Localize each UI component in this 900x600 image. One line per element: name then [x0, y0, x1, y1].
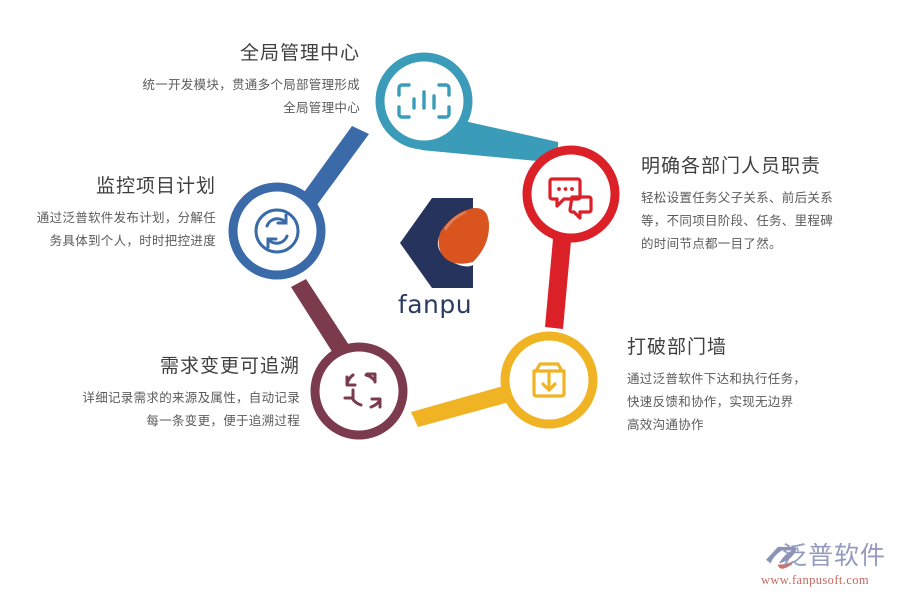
node-title-monitor: 监控项目计划 — [0, 175, 216, 200]
node-text-wall: 打破部门墙 通过泛普软件下达和执行任务， 快速反馈和协作，实现无边界 高效沟通协… — [627, 336, 877, 437]
center-logo-wordmark: fanpu — [380, 290, 490, 319]
node-text-monitor: 监控项目计划 通过泛普软件发布计划，分解任 务具体到个人，时时把控进度 — [0, 175, 216, 253]
node-body-monitor: 通过泛普软件发布计划，分解任 务具体到个人，时时把控进度 — [0, 207, 216, 253]
node-title-global: 全局管理中心 — [60, 42, 360, 67]
node-circle-monitor[interactable] — [233, 187, 321, 275]
node-body-line: 全局管理中心 — [60, 97, 360, 120]
watermark-row: 泛普软件 — [744, 536, 886, 572]
node-circle-trace[interactable] — [315, 347, 403, 435]
node-body-line: 通过泛普软件下达和执行任务， — [627, 368, 877, 391]
fanpu-hexagon-logo — [400, 198, 489, 288]
node-title-wall: 打破部门墙 — [627, 336, 877, 361]
node-body-line: 每一条变更，便于追溯过程 — [10, 410, 300, 433]
watermark-url: www.fanpusoft.com — [744, 573, 886, 588]
node-body-line: 轻松设置任务父子关系、前后关系 — [641, 187, 893, 210]
node-body-line: 统一开发模块，贯通多个局部管理形成 — [60, 74, 360, 97]
node-body-line: 等，不同项目阶段、任务、里程碑 — [641, 210, 893, 233]
node-title-trace: 需求变更可追溯 — [10, 355, 300, 380]
node-circle-roles[interactable] — [527, 150, 615, 238]
node-body-line: 高效沟通协作 — [627, 414, 877, 437]
node-body-line: 务具体到个人，时时把控进度 — [0, 230, 216, 253]
watermark-logo-slot — [744, 540, 778, 568]
infographic-canvas: 全局管理中心 统一开发模块，贯通多个局部管理形成 全局管理中心 监控项目计划 通… — [0, 0, 900, 600]
node-body-global: 统一开发模块，贯通多个局部管理形成 全局管理中心 — [60, 74, 360, 120]
watermark: 泛普软件 www.fanpusoft.com — [744, 536, 886, 588]
watermark-brand: 泛普软件 — [782, 536, 886, 572]
node-text-trace: 需求变更可追溯 详细记录需求的来源及属性，自动记录 每一条变更，便于追溯过程 — [10, 355, 300, 433]
node-body-wall: 通过泛普软件下达和执行任务， 快速反馈和协作，实现无边界 高效沟通协作 — [627, 368, 877, 437]
node-body-line: 详细记录需求的来源及属性，自动记录 — [10, 387, 300, 410]
node-body-line: 快速反馈和协作，实现无边界 — [627, 391, 877, 414]
node-body-roles: 轻松设置任务父子关系、前后关系 等，不同项目阶段、任务、里程碑 的时间节点都一目… — [641, 187, 893, 256]
node-body-trace: 详细记录需求的来源及属性，自动记录 每一条变更，便于追溯过程 — [10, 387, 300, 433]
node-body-line: 通过泛普软件发布计划，分解任 — [0, 207, 216, 230]
node-text-roles: 明确各部门人员职责 轻松设置任务父子关系、前后关系 等，不同项目阶段、任务、里程… — [641, 155, 893, 256]
node-title-roles: 明确各部门人员职责 — [641, 155, 893, 180]
node-body-line: 的时间节点都一目了然。 — [641, 233, 893, 256]
node-text-global: 全局管理中心 统一开发模块，贯通多个局部管理形成 全局管理中心 — [60, 42, 360, 120]
